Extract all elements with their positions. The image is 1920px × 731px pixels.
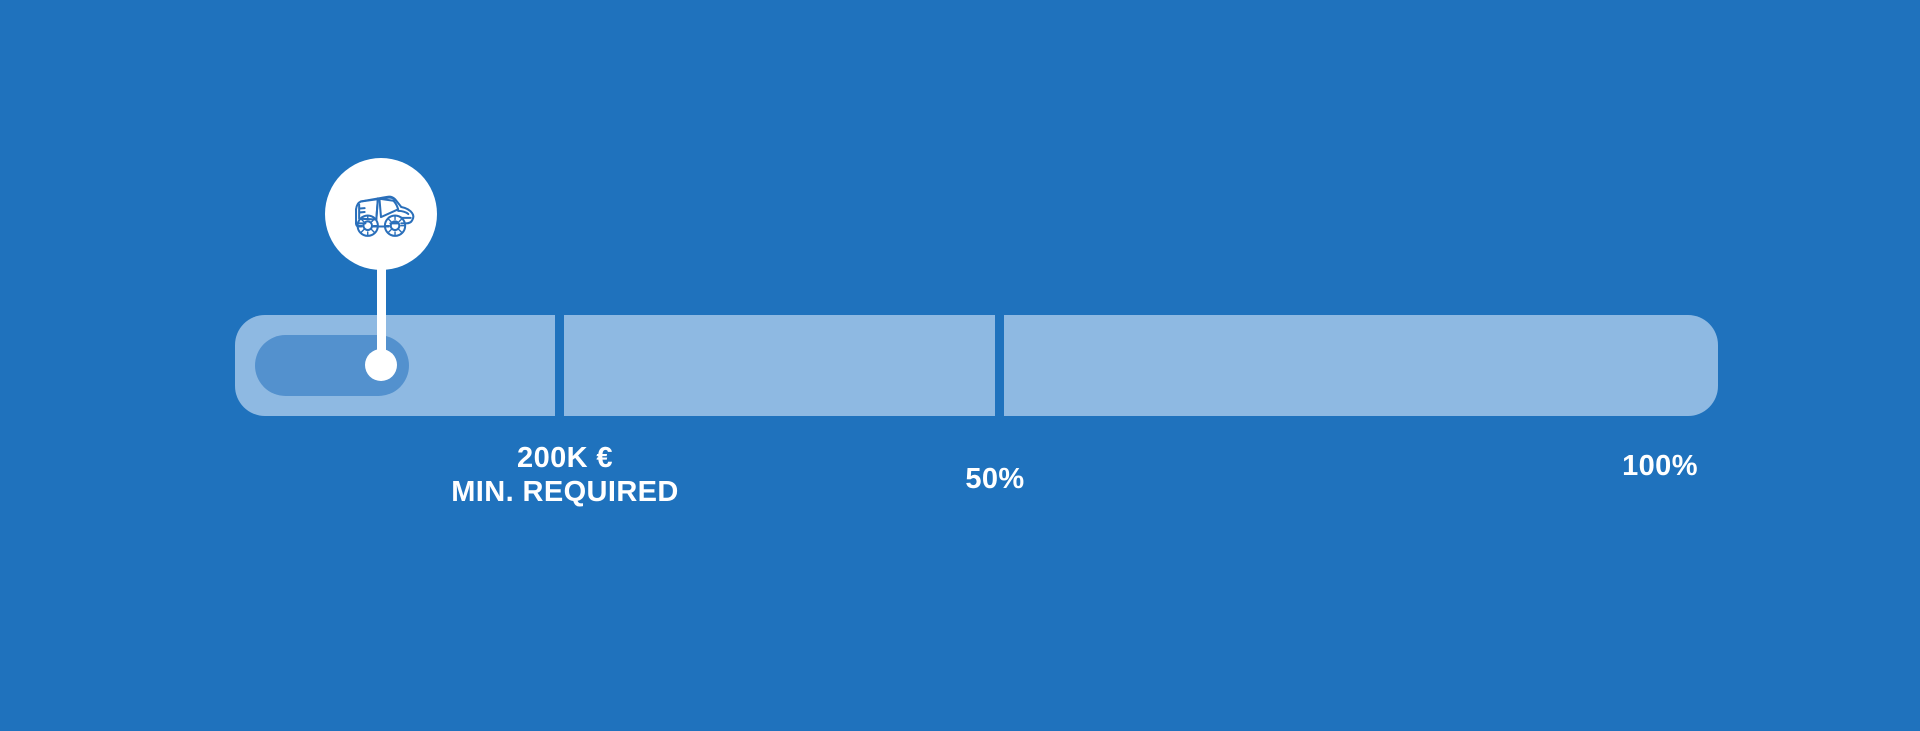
maximum-label: 100% <box>1622 449 1698 483</box>
segment-divider-2 <box>995 315 1004 416</box>
minimum-amount: 200K € <box>517 442 613 474</box>
marker-dot[interactable] <box>365 349 397 381</box>
segment-divider-1 <box>555 315 564 416</box>
midpoint-label: 50% <box>965 462 1024 496</box>
minimum-required-label: 200K € MIN. REQUIRED <box>451 441 679 509</box>
progress-infographic: 200K € MIN. REQUIRED 50% 100% <box>0 0 1920 731</box>
progress-track[interactable] <box>235 315 1718 416</box>
car-icon <box>342 175 420 253</box>
minimum-caption: MIN. REQUIRED <box>451 475 679 509</box>
marker-icon-bubble[interactable] <box>325 158 437 270</box>
